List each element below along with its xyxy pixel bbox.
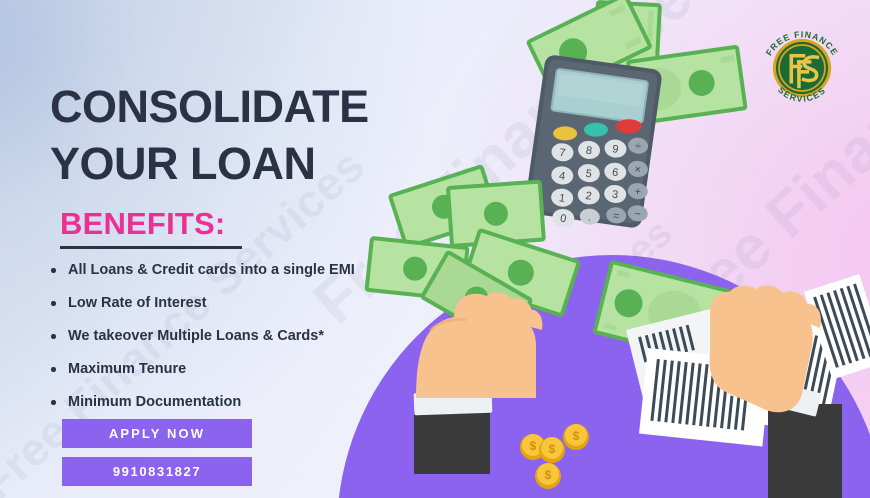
benefits-list: All Loans & Credit cards into a single E… [40,263,488,428]
svg-text:$: $ [530,439,537,453]
list-item: Minimum Documentation [68,395,488,410]
list-item: We takeover Multiple Loans & Cards* [68,329,488,344]
headline-line-2: YOUR LOAN [50,135,470,192]
benefits-heading-block: BENEFITS: [60,208,360,249]
svg-text:$: $ [573,429,580,443]
phone-number-button[interactable]: 9910831827 [62,457,252,486]
list-item: All Loans & Credit cards into a single E… [68,263,488,278]
coin: $ [563,424,589,450]
coin: $ [535,463,561,489]
svg-text:$: $ [545,468,552,482]
calculator-key-teal [584,123,608,137]
list-item: Low Rate of Interest [68,296,488,311]
list-item: Maximum Tenure [68,362,488,377]
calculator-key-red [616,119,642,133]
free-finance-services-logo: FREE FINANCE SERVICES [756,22,848,114]
promo-banner: Free Finance Services Free Finance Servi… [0,0,870,498]
headline-line-1: CONSOLIDATE [50,78,470,135]
apply-now-button[interactable]: APPLY NOW [62,419,252,448]
page-title: CONSOLIDATE YOUR LOAN [50,78,470,192]
coin: $ [539,437,565,463]
svg-text:$: $ [549,442,556,456]
calculator-icon: 7 8 9 ÷ 4 5 6 × 1 2 3 + [522,54,667,238]
benefits-underline [60,246,242,249]
benefits-heading: BENEFITS: [60,208,360,241]
calculator-key-yellow [553,126,577,140]
